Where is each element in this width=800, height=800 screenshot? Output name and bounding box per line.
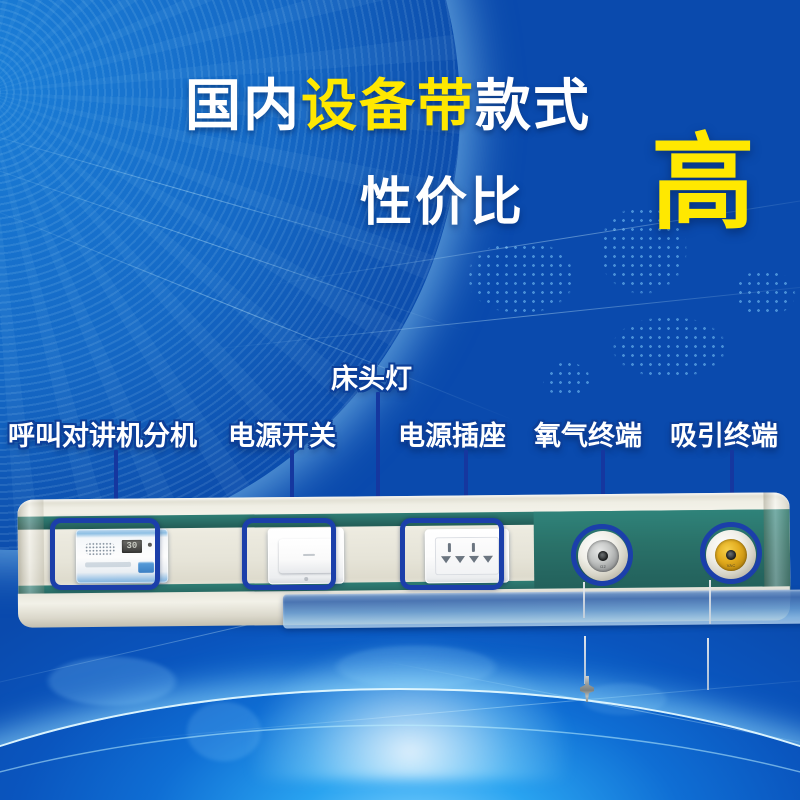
callout-label-suction: 吸引终端 <box>670 414 778 453</box>
callout-label-power-switch: 电源开关 <box>228 414 336 453</box>
callout-label-oxygen: 氧气终端 <box>534 414 642 453</box>
product-banner: 国内设备带款式 性价比 高 呼叫对讲机分机 电源开关 床头灯 电源插座 氧气终端… <box>0 0 800 800</box>
highlight-box-intercom <box>50 518 160 590</box>
headline-part-1: 国内 <box>185 78 301 134</box>
bedside-lamp-diffuser[interactable] <box>283 589 800 628</box>
oxygen-hose-upper <box>583 582 585 618</box>
headline-part-2-accent: 设备带 <box>301 78 475 134</box>
callout-label-power-socket: 电源插座 <box>398 414 506 453</box>
headline-part-3: 款式 <box>475 78 591 134</box>
callout-label-intercom: 呼叫对讲机分机 <box>8 414 197 453</box>
highlight-circle-suction <box>700 522 762 584</box>
suction-hose-upper <box>709 580 711 624</box>
highlight-box-power-socket <box>400 518 504 590</box>
callout-label-bedside-lamp: 床头灯 <box>331 357 412 396</box>
headline-block: 国内设备带款式 性价比 高 <box>0 78 800 248</box>
highlight-box-power-switch <box>242 518 336 590</box>
suction-hose-lower <box>707 638 709 690</box>
highlight-circle-oxygen <box>571 524 633 586</box>
headline-emphasis-character: 高 <box>651 132 755 236</box>
headline-subtitle: 性价比 <box>360 160 525 235</box>
headline-line-2: 性价比 高 <box>0 156 800 248</box>
